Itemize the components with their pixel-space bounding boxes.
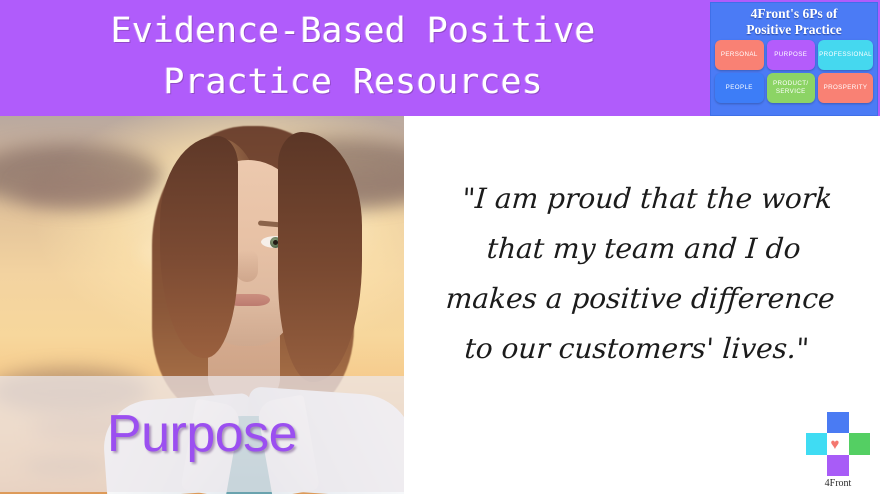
sixps-tile-prosperity[interactable]: PROSPERITY	[818, 73, 873, 103]
slide-canvas: Evidence-Based Positive Practice Resourc…	[0, 0, 880, 494]
sixps-tile-product-service[interactable]: PRODUCT/ SERVICE	[767, 73, 816, 103]
logo-square-left	[806, 433, 828, 455]
nose	[236, 250, 258, 282]
sixps-logo-box: 4Front's 6Ps of Positive Practice PERSON…	[710, 2, 878, 116]
sixps-tile-professional[interactable]: PROFESSIONAL	[818, 40, 873, 70]
caption-band: Purpose	[0, 376, 404, 492]
fourfront-logo: ♥	[806, 412, 870, 476]
page-title: Evidence-Based Positive Practice Resourc…	[0, 6, 706, 108]
logo-square-top	[827, 412, 849, 434]
quote-text: "I am proud that the work that my team a…	[413, 174, 871, 374]
heart-icon: ♥	[831, 437, 846, 452]
sixps-tile-personal[interactable]: PERSONAL	[715, 40, 764, 70]
sixps-tile-people[interactable]: PEOPLE	[715, 73, 764, 103]
logo-square-bottom	[827, 454, 849, 476]
logo-square-center: ♥	[827, 433, 849, 455]
sixps-tile-grid: PERSONAL PURPOSE PROFESSIONAL PEOPLE PRO…	[715, 40, 873, 103]
sixps-tile-purpose[interactable]: PURPOSE	[767, 40, 816, 70]
logo-square-right	[848, 433, 870, 455]
brand-name: 4Front	[806, 478, 870, 489]
purpose-caption: Purpose	[107, 404, 297, 464]
photo-panel: Purpose	[0, 116, 404, 494]
sixps-heading: 4Front's 6Ps of Positive Practice	[715, 6, 873, 37]
